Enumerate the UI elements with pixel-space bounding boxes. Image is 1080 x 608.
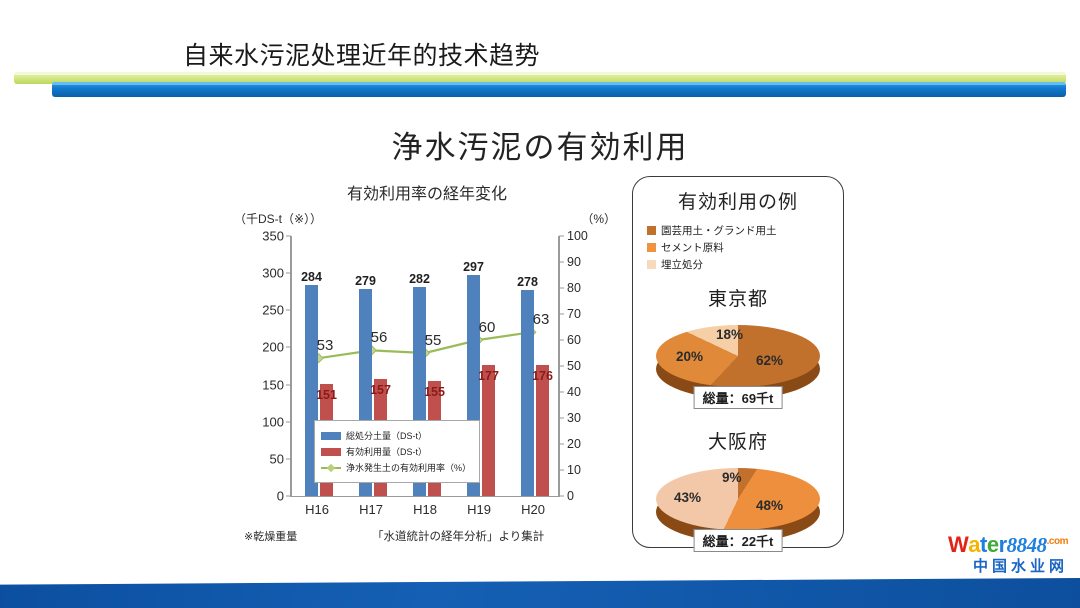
bar-reused: 177 (482, 365, 495, 496)
y-axis-tickmark-left (286, 496, 291, 497)
examples-legend-item-cement: セメント原料 (647, 240, 843, 255)
pie-slice-label-tokyo-2: 18% (716, 327, 743, 342)
legend-label-landfill: 埋立処分 (661, 257, 703, 272)
y-axis-tick-left: 300 (262, 266, 284, 281)
y-axis-tick-left: 150 (262, 377, 284, 392)
watermark-letter-t: t (980, 534, 987, 556)
y-axis-tickmark-left (286, 347, 291, 348)
bar-line-chart: 有効利用率の経年変化 （千DS-t（※）） （%） 05010015020025… (232, 180, 622, 540)
pie-chart-tokyo: 東京都 62% 20% 18% 総量：69千t (633, 284, 843, 405)
legend-swatch-garden (647, 226, 656, 235)
pie-total-tokyo: 総量：69千t (694, 386, 783, 409)
bar-value-label-total: 297 (463, 260, 484, 274)
y-axis-tickmark-left (286, 310, 291, 311)
legend-label-rate: 浄水発生土の有効利用率（%） (346, 461, 471, 474)
x-axis-labels: H16H17H18H19H20 (290, 502, 560, 522)
y-axis-tickmark-left (286, 236, 291, 237)
y-axis-tick-left: 0 (277, 489, 284, 504)
y-axis-tickmark-left (286, 458, 291, 459)
bar-value-label-reused: 176 (532, 369, 553, 383)
pie-slice-label-osaka-0: 9% (722, 470, 742, 485)
bar-value-label-total: 284 (301, 270, 322, 284)
y-axis-tickmark-right (559, 470, 564, 471)
chart-legend: 総処分土量（DS-t） 有効利用量（DS-t） 浄水発生土の有効利用率（%） (314, 420, 480, 483)
y-axis-tick-right: 100 (567, 229, 588, 243)
presentation-slide: 自来水污泥处理近年的技术趋势 浄水汚泥の有効利用 有効利用率の経年変化 （千DS… (0, 0, 1080, 608)
y-axis-tick-right: 90 (567, 255, 581, 269)
legend-swatch-blue (321, 432, 341, 440)
legend-label-garden: 園芸用土・グランド用土 (661, 223, 777, 238)
legend-swatch-red (321, 448, 341, 456)
legend-item-reused: 有効利用量（DS-t） (321, 445, 473, 458)
page-title: 自来水污泥处理近年的技术趋势 (183, 36, 540, 72)
pie-graphic-osaka: 9% 48% 43% 総量：22千t (648, 456, 828, 548)
line-value-label: 60 (479, 319, 496, 336)
watermark-subtitle: 中国水业网 (948, 559, 1068, 574)
y-axis-tick-right: 60 (567, 333, 581, 347)
y-axis-tick-right: 80 (567, 281, 581, 295)
x-axis-label: H20 (521, 502, 545, 517)
pie-slice-label-tokyo-0: 62% (756, 353, 783, 368)
bar-value-label-total: 279 (355, 274, 376, 288)
y-axis-tickmark-right (559, 366, 564, 367)
x-axis-label: H17 (359, 502, 383, 517)
x-axis-label: H18 (413, 502, 437, 517)
bar-reused: 176 (536, 365, 549, 496)
watermark-tld: .com (1047, 537, 1068, 547)
pie-slice-label-osaka-2: 43% (674, 490, 701, 505)
legend-label-total: 総処分土量（DS-t） (346, 429, 427, 442)
chart-footnote-right: 「水道統計の経年分析」より集計 (372, 528, 544, 544)
y-axis-tick-right: 70 (567, 307, 581, 321)
y-axis-tickmark-right (559, 236, 564, 237)
y-axis-tick-right: 0 (567, 489, 574, 503)
y-axis-tick-left: 200 (262, 340, 284, 355)
y-axis-unit-left: （千DS-t（※）） (234, 210, 322, 227)
examples-legend: 園芸用土・グランド用土 セメント原料 埋立処分 (647, 223, 843, 272)
bar-value-label-reused: 157 (370, 383, 391, 397)
pie-graphic-tokyo: 62% 20% 18% 総量：69千t (648, 313, 828, 405)
legend-label-reused: 有効利用量（DS-t） (346, 445, 427, 458)
pie-chart-osaka: 大阪府 9% 48% 43% 総量：22千t (633, 427, 843, 548)
y-axis-tickmark-right (559, 496, 564, 497)
examples-panel-title: 有効利用の例 (633, 187, 843, 214)
y-axis-tick-right: 20 (567, 437, 581, 451)
bar-value-label-reused: 155 (424, 385, 445, 399)
pie-title-osaka: 大阪府 (633, 427, 843, 454)
y-axis-tickmark-right (559, 288, 564, 289)
y-axis-tick-right: 30 (567, 411, 581, 425)
y-axis-tickmark-left (286, 421, 291, 422)
decor-rule-blue (52, 82, 1066, 97)
watermark-letter-a: a (968, 534, 980, 556)
legend-label-cement: セメント原料 (661, 240, 724, 255)
y-axis-tick-right: 10 (567, 463, 581, 477)
y-axis-tickmark-right (559, 314, 564, 315)
legend-swatch-landfill (647, 260, 656, 269)
legend-item-rate: 浄水発生土の有効利用率（%） (321, 461, 473, 474)
examples-panel: 有効利用の例 園芸用土・グランド用土 セメント原料 埋立処分 東京都 62% (632, 176, 844, 548)
pie-slice-label-osaka-1: 48% (756, 498, 783, 513)
legend-swatch-cement (647, 243, 656, 252)
pie-title-tokyo: 東京都 (633, 284, 843, 311)
watermark-letter-e: e (987, 534, 999, 556)
watermark-number: 8848 (1007, 535, 1047, 556)
y-axis-tick-right: 40 (567, 385, 581, 399)
line-value-label: 55 (425, 332, 442, 349)
legend-item-total: 総処分土量（DS-t） (321, 429, 473, 442)
line-value-label: 53 (317, 337, 334, 354)
watermark-logo: Water8848.com 中国水业网 (948, 534, 1068, 574)
y-axis-tick-left: 50 (270, 451, 284, 466)
bar-value-label-total: 282 (409, 272, 430, 286)
figure-title: 浄水汚泥の有効利用 (0, 122, 1080, 167)
y-axis-tick-left: 100 (262, 414, 284, 429)
y-axis-tickmark-left (286, 273, 291, 274)
y-axis-unit-right: （%） (581, 210, 616, 227)
bar-value-label-reused: 151 (316, 388, 337, 402)
y-axis-tickmark-right (559, 262, 564, 263)
examples-legend-item-landfill: 埋立処分 (647, 257, 843, 272)
bar-value-label-reused: 177 (478, 369, 499, 383)
pie-total-osaka: 総量：22千t (694, 529, 783, 552)
y-axis-tickmark-right (559, 418, 564, 419)
y-axis-tick-right: 50 (567, 359, 581, 373)
bar-value-label-total: 278 (517, 275, 538, 289)
pie-slice-label-tokyo-1: 20% (676, 349, 703, 364)
x-axis-label: H16 (305, 502, 329, 517)
y-axis-tickmark-right (559, 444, 564, 445)
chart-footnote-left: ※乾燥重量 (244, 528, 297, 544)
line-value-label: 63 (533, 311, 550, 328)
y-axis-tick-left: 350 (262, 229, 284, 244)
x-axis-label: H19 (467, 502, 491, 517)
examples-legend-item-garden: 園芸用土・グランド用土 (647, 223, 843, 238)
watermark-letter-r: r (999, 534, 1007, 556)
chart-subtitle: 有効利用率の経年変化 (232, 180, 622, 204)
y-axis-tickmark-right (559, 340, 564, 341)
y-axis-tick-left: 250 (262, 303, 284, 318)
watermark-letter-w: W (948, 534, 968, 556)
y-axis-tickmark-right (559, 392, 564, 393)
line-value-label: 56 (371, 329, 388, 346)
y-axis-tickmark-left (286, 384, 291, 385)
watermark-wordmark: Water8848.com (948, 534, 1068, 556)
decor-bottom-band (0, 578, 1080, 608)
legend-swatch-line (321, 463, 341, 473)
